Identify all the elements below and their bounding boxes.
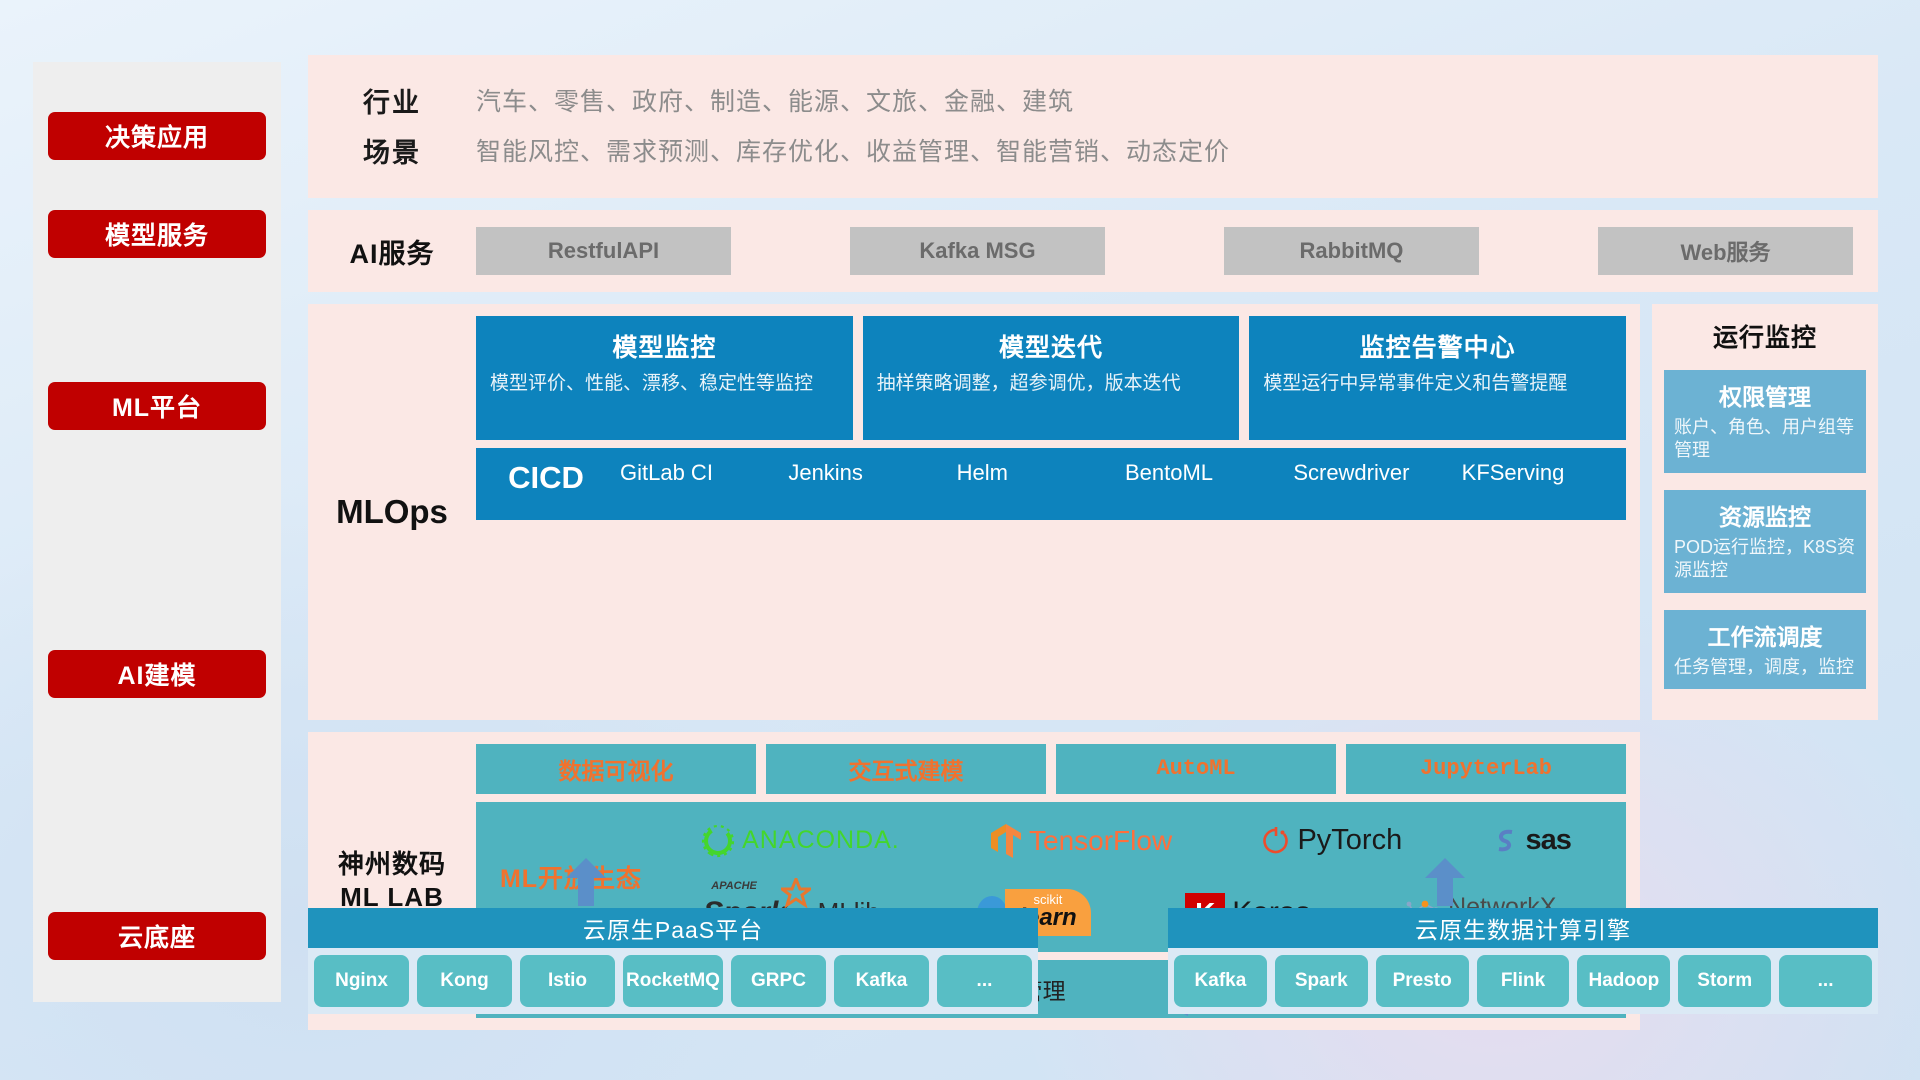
card-title: 权限管理 [1674,378,1856,412]
card-desc: 抽样策略调整，超参调优，版本迭代 [877,371,1226,396]
sas-logo: sas [1492,824,1570,857]
cicd-label: CICD [476,460,616,496]
modeling-tool-list: 数据可视化 交互式建模 AutoML JupyterLab [476,744,1626,794]
runtime-monitoring-column: 运行监控 权限管理 账户、角色、用户组等管理 资源监控 POD运行监控，K8S资… [1652,304,1878,720]
cicd-tool-screwdriver[interactable]: Screwdriver [1289,460,1457,486]
card-desc: 任务管理，调度，监控 [1674,656,1856,679]
rail-item-label: AI建模 [117,656,196,692]
cloud-paas-title: 云原生PaaS平台 [308,908,1038,948]
cloud-data-engine-block: 云原生数据计算引擎 Kafka Spark Presto Flink Hadoo… [1168,908,1878,1014]
band-spacer [308,198,1878,210]
chip-kong[interactable]: Kong [417,955,512,1007]
rail-item-0[interactable]: 决策应用 [48,112,266,160]
ml-platform-row: MLOps 模型监控 模型评价、性能、漂移、稳定性等监控 模型迭代 抽样策略调整… [308,304,1878,720]
scenario-row: 场景 智能风控、需求预测、库存优化、收益管理、智能营销、动态定价 [308,125,1878,175]
chip-rocketmq[interactable]: RocketMQ [623,955,723,1007]
pytorch-wordmark: PyTorch [1297,824,1402,857]
industry-label: 行业 [308,81,476,120]
mlops-card-model-monitoring[interactable]: 模型监控 模型评价、性能、漂移、稳定性等监控 [476,316,853,440]
runtime-monitoring-title: 运行监控 [1664,318,1866,354]
band-spacer [308,720,1878,732]
scenario-values: 智能风控、需求预测、库存优化、收益管理、智能营销、动态定价 [476,132,1230,168]
chip-grpc[interactable]: GRPC [731,955,826,1007]
chip-kafka[interactable]: Kafka [834,955,929,1007]
service-box-rabbitmq[interactable]: RabbitMQ [1224,227,1479,275]
scenario-label: 场景 [308,131,476,170]
mlops-card-list: 模型监控 模型评价、性能、漂移、稳定性等监控 模型迭代 抽样策略调整，超参调优，… [476,316,1626,440]
mlops-content: 模型监控 模型评价、性能、漂移、稳定性等监控 模型迭代 抽样策略调整，超参调优，… [476,316,1626,708]
card-title: 资源监控 [1674,498,1856,532]
mlops-label: MLOps [308,316,476,708]
tensorflow-logo: TensorFlow [990,823,1172,859]
tensorflow-wordmark: TensorFlow [1029,825,1172,857]
tool-box-jupyterlab[interactable]: JupyterLab [1346,744,1626,794]
ml-lab-line1: 神州数码 [338,848,446,881]
rail-item-label: 决策应用 [105,118,209,154]
logo-line-top: ANACONDA. TensorFlow [656,808,1616,874]
rail-item-1[interactable]: 模型服务 [48,210,266,258]
rail-item-2[interactable]: ML平台 [48,382,266,430]
chip-nginx[interactable]: Nginx [314,955,409,1007]
pytorch-logo: PyTorch [1262,824,1402,857]
monitor-card-workflow[interactable]: 工作流调度 任务管理，调度，监控 [1664,610,1866,689]
tensorflow-icon [990,823,1022,859]
ai-services-list: RestfulAPI Kafka MSG RabbitMQ Web服务 [476,227,1878,275]
monitor-card-resources[interactable]: 资源监控 POD运行监控，K8S资源监控 [1664,490,1866,593]
chip-more-engine[interactable]: ... [1779,955,1872,1007]
chip-spark[interactable]: Spark [1275,955,1368,1007]
rail-item-4[interactable]: 云底座 [48,912,266,960]
chip-istio[interactable]: Istio [520,955,615,1007]
cicd-tool-jenkins[interactable]: Jenkins [784,460,952,486]
service-label: RestfulAPI [548,238,659,264]
tool-label: 交互式建模 [849,752,964,786]
left-rail: 决策应用 模型服务 ML平台 AI建模 云底座 [33,62,281,1002]
mlops-card-alert-center[interactable]: 监控告警中心 模型运行中异常事件定义和告警提醒 [1249,316,1626,440]
card-desc: 模型评价、性能、漂移、稳定性等监控 [490,371,839,396]
ai-services-label: AI服务 [308,232,476,271]
mlops-band: MLOps 模型监控 模型评价、性能、漂移、稳定性等监控 模型迭代 抽样策略调整… [308,304,1640,720]
cloud-data-engine-chip-list: Kafka Spark Presto Flink Hadoop Storm ..… [1168,948,1878,1014]
card-title: 模型监控 [490,328,839,364]
cicd-tool-bentoml[interactable]: BentoML [1121,460,1289,486]
chip-presto[interactable]: Presto [1376,955,1469,1007]
cicd-tool-gitlab-ci[interactable]: GitLab CI [616,460,784,486]
cloud-paas-chip-list: Nginx Kong Istio RocketMQ GRPC Kafka ... [308,948,1038,1014]
cicd-tool-list: GitLab CI Jenkins Helm BentoML Screwdriv… [616,460,1626,486]
card-desc: POD运行监控，K8S资源监控 [1674,536,1856,583]
cloud-paas-block: 云原生PaaS平台 Nginx Kong Istio RocketMQ GRPC… [308,908,1038,1014]
cicd-tool-helm[interactable]: Helm [953,460,1121,486]
rail-item-label: ML平台 [112,388,202,424]
cicd-tool-kfserving[interactable]: KFServing [1458,460,1626,486]
card-title: 工作流调度 [1674,618,1856,652]
main-content: 行业 汽车、零售、政府、制造、能源、文旅、金融、建筑 场景 智能风控、需求预测、… [308,55,1878,1030]
tool-box-data-visualization[interactable]: 数据可视化 [476,744,756,794]
ai-services-band: AI服务 RestfulAPI Kafka MSG RabbitMQ Web服务 [308,210,1878,292]
pytorch-icon [1262,825,1290,857]
band-spacer [308,292,1878,304]
card-desc: 模型运行中异常事件定义和告警提醒 [1263,371,1612,396]
anaconda-wordmark: ANACONDA. [742,826,900,855]
chip-flink[interactable]: Flink [1477,955,1570,1007]
tool-label: 数据可视化 [559,752,674,786]
chip-kafka-engine[interactable]: Kafka [1174,955,1267,1007]
chip-hadoop[interactable]: Hadoop [1577,955,1670,1007]
sas-wordmark: sas [1525,824,1570,857]
service-box-web[interactable]: Web服务 [1598,227,1853,275]
service-label: Web服务 [1680,235,1770,267]
card-title: 模型迭代 [877,328,1226,364]
service-box-kafka-msg[interactable]: Kafka MSG [850,227,1105,275]
service-box-restfulapi[interactable]: RestfulAPI [476,227,731,275]
tool-box-automl[interactable]: AutoML [1056,744,1336,794]
up-arrow-icon-right [1425,858,1465,906]
cicd-bar: CICD GitLab CI Jenkins Helm BentoML Scre… [476,448,1626,520]
mlops-card-model-iteration[interactable]: 模型迭代 抽样策略调整，超参调优，版本迭代 [863,316,1240,440]
cloud-data-engine-title: 云原生数据计算引擎 [1168,908,1878,948]
decision-apps-band: 行业 汽车、零售、政府、制造、能源、文旅、金融、建筑 场景 智能风控、需求预测、… [308,55,1878,198]
industry-row: 行业 汽车、零售、政府、制造、能源、文旅、金融、建筑 [308,75,1878,125]
rail-item-label: 云底座 [118,918,196,954]
service-label: RabbitMQ [1300,238,1404,264]
rail-item-label: 模型服务 [105,216,209,252]
card-title: 监控告警中心 [1263,328,1612,364]
cloud-foundation-zone: 云原生PaaS平台 Nginx Kong Istio RocketMQ GRPC… [308,890,1878,1030]
tool-label: AutoML [1156,756,1235,781]
industry-values: 汽车、零售、政府、制造、能源、文旅、金融、建筑 [476,82,1074,118]
sas-icon [1492,826,1518,856]
rail-item-3[interactable]: AI建模 [48,650,266,698]
card-desc: 账户、角色、用户组等管理 [1674,416,1856,463]
anaconda-logo: ANACONDA. [701,824,900,858]
tool-box-interactive-modeling[interactable]: 交互式建模 [766,744,1046,794]
service-label: Kafka MSG [919,238,1035,264]
chip-more[interactable]: ... [937,955,1032,1007]
monitor-card-permissions[interactable]: 权限管理 账户、角色、用户组等管理 [1664,370,1866,473]
tool-label: JupyterLab [1420,756,1552,781]
up-arrow-icon-left [566,858,606,906]
chip-storm[interactable]: Storm [1678,955,1771,1007]
anaconda-icon [701,824,735,858]
